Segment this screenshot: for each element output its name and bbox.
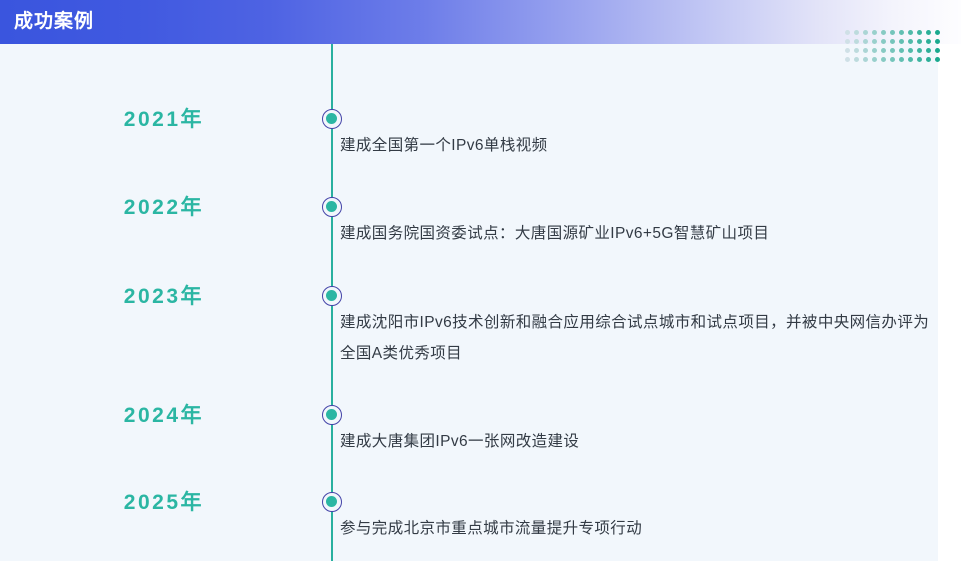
- decor-dot: [899, 39, 904, 44]
- timeline-marker-core: [326, 496, 337, 507]
- decor-dot: [926, 57, 931, 62]
- decor-dot: [872, 30, 877, 35]
- timeline-description: 建成国务院国资委试点：大唐国源矿业IPv6+5G智慧矿山项目: [340, 218, 950, 249]
- decor-dot: [872, 39, 877, 44]
- decor-dot: [881, 57, 886, 62]
- timeline: 2021年建成全国第一个IPv6单栈视频2022年建成国务院国资委试点：大唐国源…: [0, 44, 938, 561]
- timeline-marker-dot[interactable]: [322, 197, 342, 217]
- timeline-marker-core: [326, 290, 337, 301]
- page-header-bar: 成功案例: [0, 0, 961, 44]
- timeline-description: 建成大唐集团IPv6一张网改造建设: [340, 426, 950, 457]
- decor-dot: [935, 30, 940, 35]
- decor-dot: [863, 30, 868, 35]
- decor-dot: [845, 48, 850, 53]
- decor-dot: [872, 48, 877, 53]
- decor-dot: [926, 39, 931, 44]
- timeline-year-label: 2021年: [40, 107, 204, 133]
- decor-dot: [854, 30, 859, 35]
- decor-dot: [863, 57, 868, 62]
- decor-dot: [890, 48, 895, 53]
- decor-dot: [890, 57, 895, 62]
- timeline-description: 建成全国第一个IPv6单栈视频: [340, 130, 950, 161]
- timeline-marker-dot[interactable]: [322, 109, 342, 129]
- decor-dot: [899, 30, 904, 35]
- decor-dot: [845, 30, 850, 35]
- decor-dot: [845, 57, 850, 62]
- timeline-marker-core: [326, 201, 337, 212]
- page-title: 成功案例: [14, 11, 94, 33]
- decor-dot: [899, 57, 904, 62]
- timeline-marker-core: [326, 409, 337, 420]
- decor-dot: [881, 30, 886, 35]
- decor-dot: [881, 39, 886, 44]
- decor-dot: [863, 48, 868, 53]
- decor-dot: [890, 39, 895, 44]
- decor-dot: [872, 57, 877, 62]
- timeline-marker-dot[interactable]: [322, 405, 342, 425]
- decor-dot: [854, 39, 859, 44]
- decor-dot: [908, 48, 913, 53]
- decor-dot: [845, 39, 850, 44]
- timeline-year-label: 2022年: [40, 195, 204, 221]
- dot-grid-decoration: [843, 28, 942, 64]
- decor-dot: [908, 57, 913, 62]
- decor-dot: [917, 48, 922, 53]
- decor-dot: [917, 30, 922, 35]
- decor-dot: [917, 39, 922, 44]
- decor-dot: [881, 48, 886, 53]
- decor-dot: [917, 57, 922, 62]
- timeline-marker-dot[interactable]: [322, 492, 342, 512]
- decor-dot: [863, 39, 868, 44]
- timeline-year-label: 2024年: [40, 403, 204, 429]
- timeline-year-label: 2025年: [40, 490, 204, 516]
- timeline-marker-dot[interactable]: [322, 286, 342, 306]
- timeline-description: 建成沈阳市IPv6技术创新和融合应用综合试点城市和试点项目，并被中央网信办评为全…: [340, 307, 940, 369]
- decor-dot: [935, 57, 940, 62]
- success-cases-page: 成功案例 2021年建成全国第一个IPv6单栈视频2022年建成国务院国资委试点…: [0, 0, 961, 577]
- decor-dot: [908, 30, 913, 35]
- decor-dot: [926, 48, 931, 53]
- decor-dot: [854, 48, 859, 53]
- decor-dot: [899, 48, 904, 53]
- timeline-year-label: 2023年: [40, 284, 204, 310]
- decor-dot: [935, 48, 940, 53]
- decor-dot: [854, 57, 859, 62]
- timeline-description: 参与完成北京市重点城市流量提升专项行动: [340, 513, 950, 544]
- decor-dot: [935, 39, 940, 44]
- decor-dot: [926, 30, 931, 35]
- timeline-marker-core: [326, 113, 337, 124]
- decor-dot: [890, 30, 895, 35]
- decor-dot: [908, 39, 913, 44]
